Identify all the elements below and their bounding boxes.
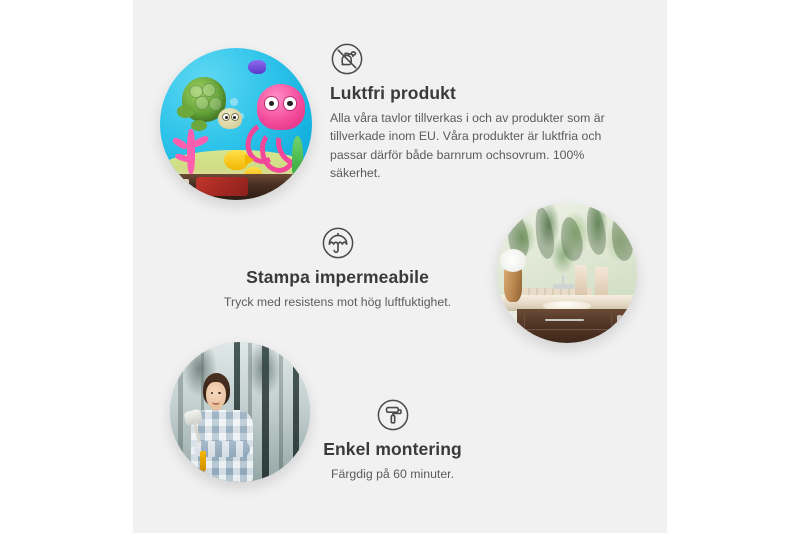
feature-text-easy-mounting: Enkel montering Färgdig på 60 minuter. bbox=[305, 398, 480, 483]
feature-body: Färgdig på 60 minuter. bbox=[305, 465, 480, 483]
umbrella-icon bbox=[215, 226, 460, 260]
promo-infographic: Luktfri produkt Alla våra tavlor tillver… bbox=[0, 0, 800, 533]
feature-title: Luktfri produkt bbox=[330, 83, 622, 104]
paint-roller-icon bbox=[305, 398, 480, 432]
feature-image-underwater bbox=[160, 48, 312, 200]
feature-title: Enkel montering bbox=[305, 439, 480, 460]
feature-text-odourless: Luktfri produkt Alla våra tavlor tillver… bbox=[330, 42, 622, 183]
feature-body: Alla våra tavlor tillverkas i och av pro… bbox=[330, 109, 622, 183]
feature-image-installer bbox=[170, 342, 310, 482]
no-fragrance-icon bbox=[330, 42, 622, 76]
feature-title: Stampa impermeabile bbox=[215, 267, 460, 288]
feature-image-bathroom bbox=[497, 203, 637, 343]
feature-body: Tryck med resistens mot hög luftfuktighe… bbox=[215, 293, 460, 311]
feature-text-waterproof: Stampa impermeabile Tryck med resistens … bbox=[215, 226, 460, 311]
